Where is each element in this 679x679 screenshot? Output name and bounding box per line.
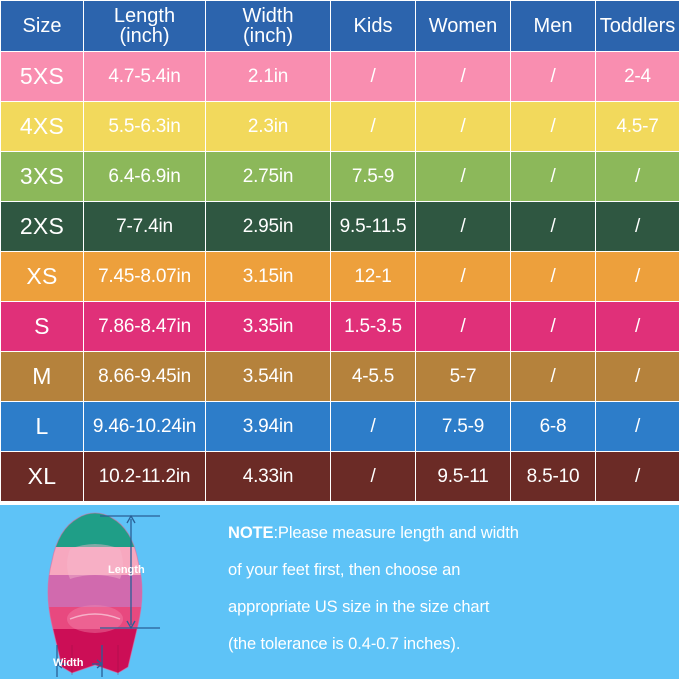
header-length-line2: (inch) [84, 26, 205, 46]
cell-women: / [416, 152, 511, 202]
cell-women: / [416, 252, 511, 302]
header-row: Size Length (inch) Width (inch) Kids Wom… [1, 1, 679, 52]
table-row: 2XS7-7.4in2.95in9.5-11.5/// [1, 202, 679, 252]
header-cell-toddlers: Toddlers [596, 1, 679, 52]
fin-foot-opening [67, 605, 123, 633]
cell-width: 2.1in [206, 52, 331, 102]
cell-length: 7.86-8.47in [84, 302, 206, 352]
cell-toddlers: / [596, 352, 679, 402]
cell-women: / [416, 202, 511, 252]
cell-women: / [416, 52, 511, 102]
cell-width: 4.33in [206, 452, 331, 502]
cell-kids: / [331, 452, 416, 502]
note-line-3: appropriate US size in the size chart [228, 589, 658, 626]
cell-kids: 4-5.5 [331, 352, 416, 402]
cell-toddlers: 2-4 [596, 52, 679, 102]
table-row: XL10.2-11.2in4.33in/9.5-118.5-10/ [1, 452, 679, 502]
header-size-line1: Size [23, 15, 62, 37]
cell-length: 5.5-6.3in [84, 102, 206, 152]
cell-toddlers: / [596, 152, 679, 202]
cell-width: 2.75in [206, 152, 331, 202]
cell-size: XL [1, 452, 84, 502]
cell-women: / [416, 102, 511, 152]
note-panel: Length Width NOTE:Please measure length … [0, 505, 679, 679]
note-body-1: Please measure length and width [278, 524, 519, 542]
cell-men: / [511, 202, 596, 252]
table-row: 5XS4.7-5.4in2.1in///2-4 [1, 52, 679, 102]
cell-women: / [416, 302, 511, 352]
header-cell-kids: Kids [331, 1, 416, 52]
cell-men: / [511, 102, 596, 152]
cell-size: 4XS [1, 102, 84, 152]
cell-men: / [511, 252, 596, 302]
cell-toddlers: / [596, 202, 679, 252]
cell-width: 2.95in [206, 202, 331, 252]
cell-size: L [1, 402, 84, 452]
header-cell-women: Women [416, 1, 511, 52]
table-row: XS7.45-8.07in3.15in12-1/// [1, 252, 679, 302]
cell-men: 6-8 [511, 402, 596, 452]
table-row: M8.66-9.45in3.54in4-5.55-7// [1, 352, 679, 402]
note-line-2: of your feet first, then choose an [228, 552, 658, 589]
cell-width: 2.3in [206, 102, 331, 152]
cell-kids: 12-1 [331, 252, 416, 302]
header-cell-size: Size [1, 1, 84, 52]
cell-width: 3.94in [206, 402, 331, 452]
cell-length: 10.2-11.2in [84, 452, 206, 502]
header-cell-men: Men [511, 1, 596, 52]
table-header: Size Length (inch) Width (inch) Kids Wom… [1, 1, 679, 52]
cell-kids: / [331, 52, 416, 102]
cell-kids: / [331, 402, 416, 452]
header-width-line1: Width [242, 5, 293, 27]
cell-length: 7.45-8.07in [84, 252, 206, 302]
cell-men: / [511, 152, 596, 202]
cell-women: 5-7 [416, 352, 511, 402]
cell-toddlers: / [596, 302, 679, 352]
cell-size: XS [1, 252, 84, 302]
cell-toddlers: / [596, 252, 679, 302]
length-dimension-label: Length [108, 564, 145, 576]
cell-women: 7.5-9 [416, 402, 511, 452]
cell-kids: 7.5-9 [331, 152, 416, 202]
note-label: NOTE [228, 524, 273, 542]
header-cell-length: Length (inch) [84, 1, 206, 52]
header-women-line1: Women [429, 15, 498, 37]
cell-toddlers: / [596, 402, 679, 452]
size-chart-page: Size Length (inch) Width (inch) Kids Wom… [0, 0, 679, 679]
cell-women: 9.5-11 [416, 452, 511, 502]
header-length-line1: Length [114, 5, 175, 27]
cell-kids: 9.5-11.5 [331, 202, 416, 252]
note-text-block: NOTE:Please measure length and width of … [228, 515, 658, 663]
cell-kids: / [331, 102, 416, 152]
cell-size: 3XS [1, 152, 84, 202]
size-chart-table: Size Length (inch) Width (inch) Kids Wom… [0, 0, 679, 502]
cell-width: 3.54in [206, 352, 331, 402]
table-row: 3XS6.4-6.9in2.75in7.5-9/// [1, 152, 679, 202]
fin-illustration: Length Width [0, 505, 215, 679]
cell-length: 9.46-10.24in [84, 402, 206, 452]
header-kids-line1: Kids [354, 15, 393, 37]
cell-toddlers: 4.5-7 [596, 102, 679, 152]
note-line-1: NOTE:Please measure length and width [228, 515, 658, 552]
cell-men: 8.5-10 [511, 452, 596, 502]
cell-length: 7-7.4in [84, 202, 206, 252]
cell-size: M [1, 352, 84, 402]
header-men-line1: Men [534, 15, 573, 37]
cell-length: 8.66-9.45in [84, 352, 206, 402]
header-cell-width: Width (inch) [206, 1, 331, 52]
table-row: L9.46-10.24in3.94in/7.5-96-8/ [1, 402, 679, 452]
cell-size: 2XS [1, 202, 84, 252]
cell-size: 5XS [1, 52, 84, 102]
cell-width: 3.15in [206, 252, 331, 302]
cell-toddlers: / [596, 452, 679, 502]
table-body: 5XS4.7-5.4in2.1in///2-44XS5.5-6.3in2.3in… [1, 52, 679, 502]
cell-length: 6.4-6.9in [84, 152, 206, 202]
header-toddlers-line1: Toddlers [600, 15, 676, 37]
cell-width: 3.35in [206, 302, 331, 352]
table-row: S7.86-8.47in3.35in1.5-3.5/// [1, 302, 679, 352]
swim-fin-icon [0, 505, 215, 679]
cell-men: / [511, 302, 596, 352]
table-row: 4XS5.5-6.3in2.3in///4.5-7 [1, 102, 679, 152]
cell-men: / [511, 52, 596, 102]
width-dimension-label: Width [53, 657, 83, 669]
cell-kids: 1.5-3.5 [331, 302, 416, 352]
cell-length: 4.7-5.4in [84, 52, 206, 102]
cell-size: S [1, 302, 84, 352]
header-width-line2: (inch) [206, 26, 330, 46]
note-line-4: (the tolerance is 0.4-0.7 inches). [228, 626, 658, 663]
cell-men: / [511, 352, 596, 402]
